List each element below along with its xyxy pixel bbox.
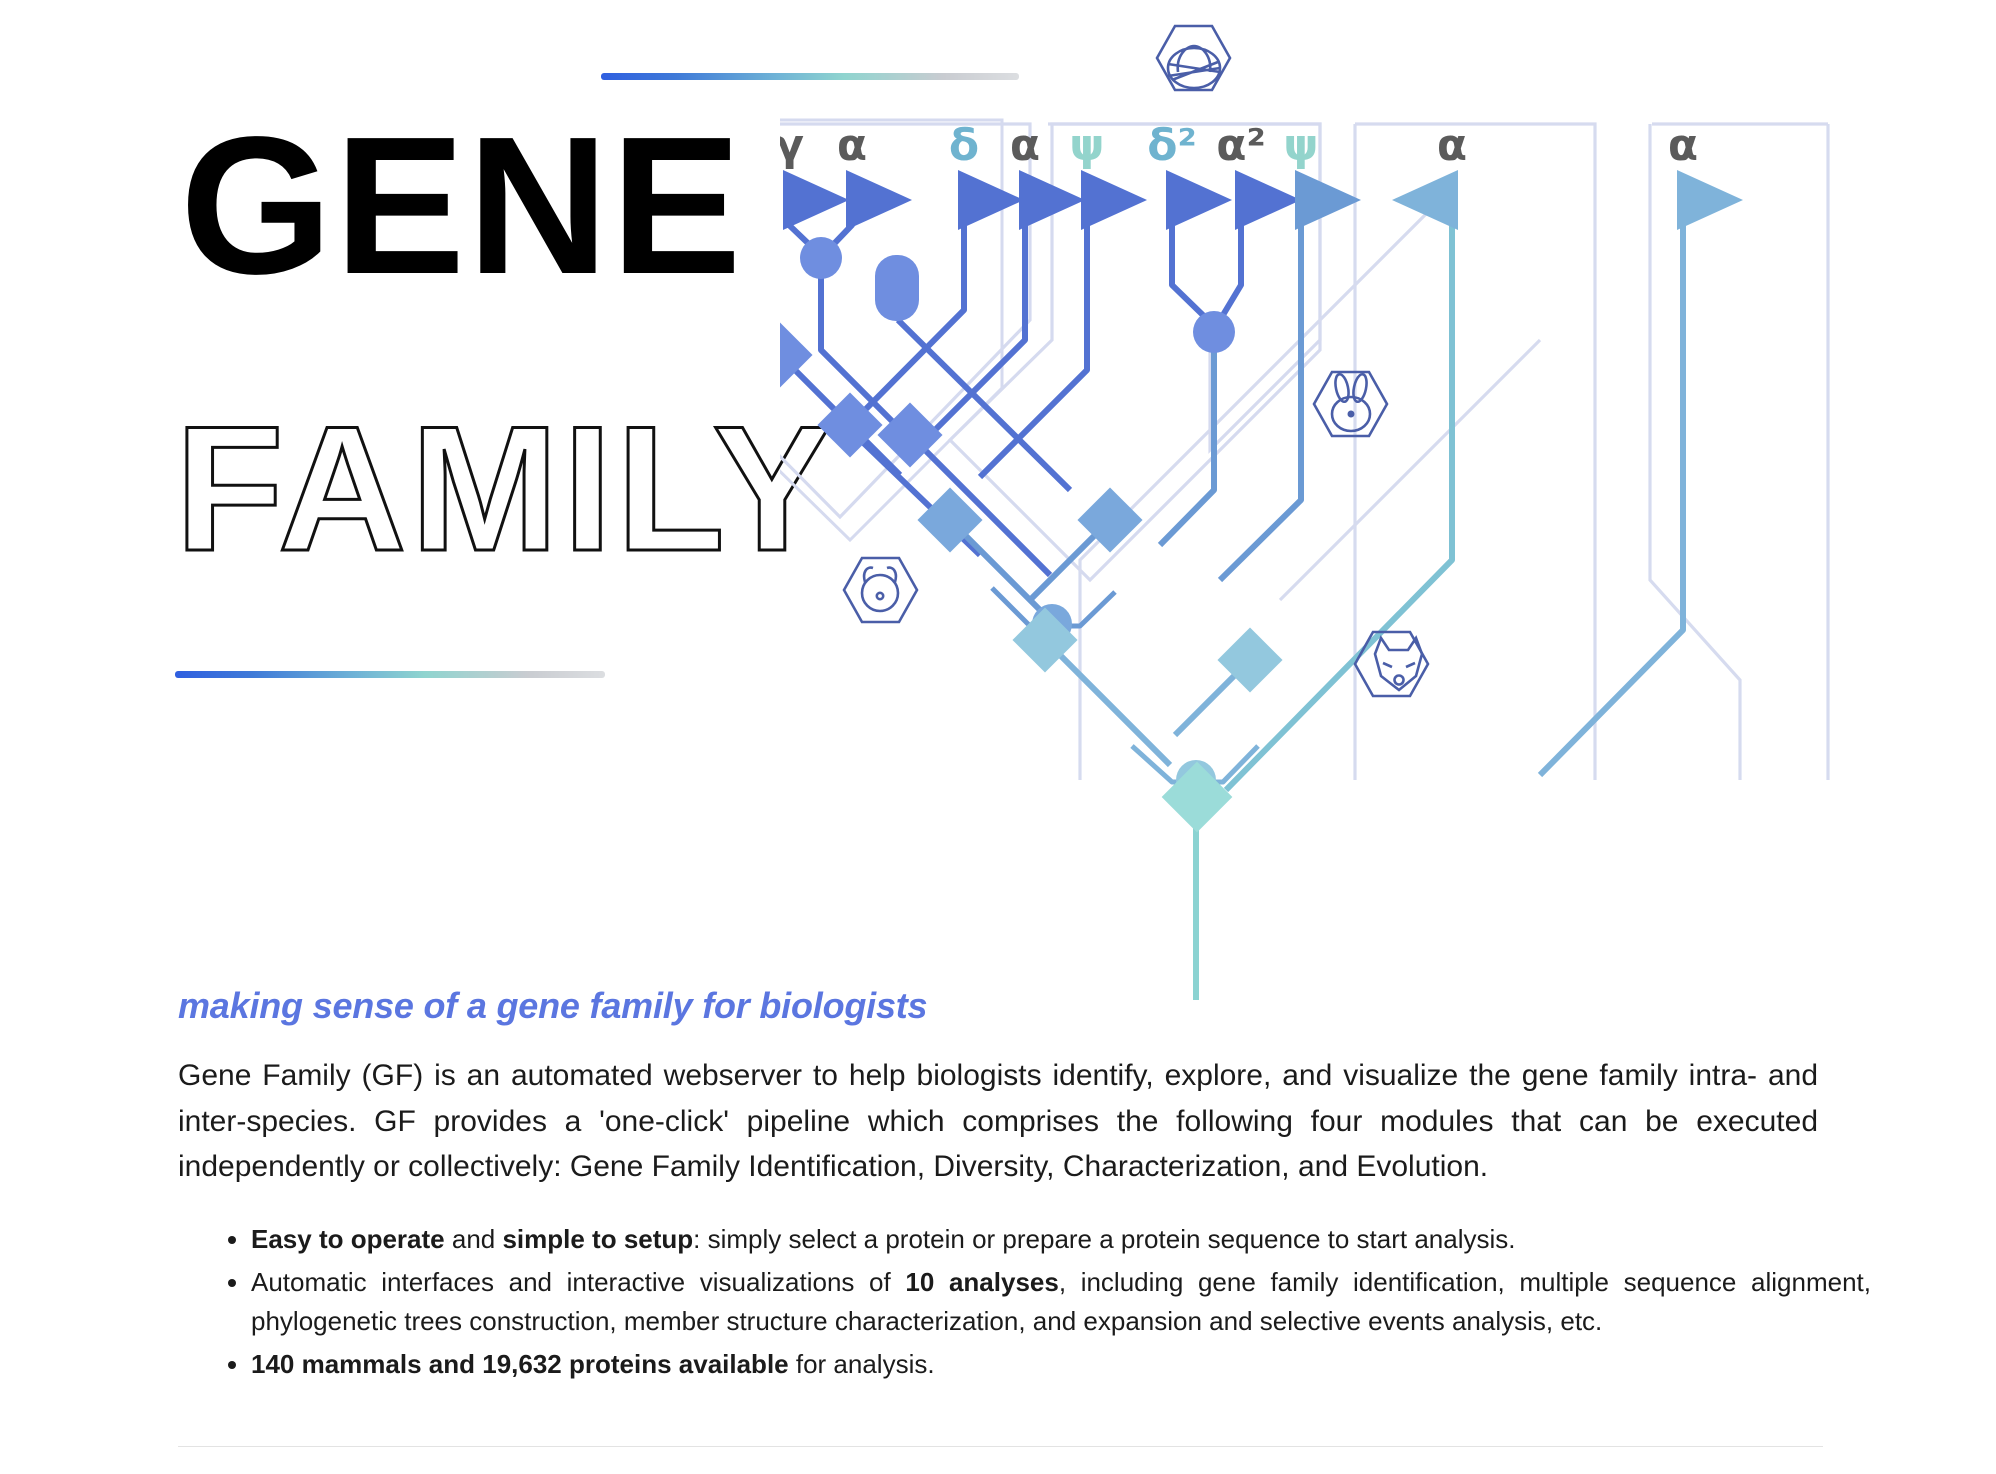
- logo-word-gene: GENE: [180, 108, 743, 304]
- clade-outlines: [780, 120, 1002, 540]
- clade-outline-clade4: [1080, 200, 1440, 780]
- branch-delta2-3: [1172, 200, 1208, 320]
- list-item-mammals-and-proteins: 140 mammals and 19,632 proteins availabl…: [251, 1345, 1871, 1384]
- tip-label-alpha-2: α: [1010, 120, 1040, 171]
- branch-circle-3-down: [1160, 350, 1214, 545]
- tip-label-psi-2: ψ: [1070, 120, 1105, 171]
- tip-label-gamma-1: γ: [780, 120, 804, 171]
- tip-label-alpha-1: α: [837, 120, 867, 171]
- tip-label-psi-3: ψ: [1284, 120, 1319, 171]
- node-circle-speciation-1: [800, 237, 842, 279]
- clade-outline-clade5: [1650, 124, 1740, 780]
- node-diamond-1: [780, 322, 813, 387]
- branch-root-up-right: [1226, 200, 1452, 790]
- page-tagline: making sense of a gene family for biolog…: [178, 985, 927, 1027]
- node-pill-expansion: [875, 255, 919, 321]
- logo-word-family: FAMILY: [175, 400, 835, 578]
- accent-rule-bottom: [175, 671, 605, 678]
- tip-label-delta2-3: δ²: [1147, 120, 1197, 171]
- intro-paragraph: Gene Family (GF) is an automated webserv…: [178, 1053, 1818, 1190]
- clade-outline-clade3: [1355, 124, 1595, 780]
- tip-label-alpha-5: α: [1668, 120, 1698, 171]
- clade-outline-c: [950, 124, 1320, 580]
- tip-label-delta-2: δ: [949, 120, 979, 171]
- tip-label-alpha2-3: α²: [1216, 120, 1266, 171]
- clade-outline-group: [780, 124, 1320, 580]
- node-diamond-row1: [780, 322, 943, 467]
- node-diamond-root: [1162, 762, 1233, 833]
- logo-word-family-text: FAMILY: [175, 389, 835, 588]
- feature-list: Easy to operate and simple to setup: sim…: [205, 1220, 1871, 1388]
- list-item-automatic-interfaces: Automatic interfaces and interactive vis…: [251, 1263, 1871, 1341]
- tree-branches: [780, 195, 1683, 1000]
- gene-family-tree-illustration: δ β γ α δ α ψ δ² α² ψ α α: [780, 20, 1996, 1000]
- logo-word-gene-text: GENE: [180, 96, 743, 315]
- list-item-easy-to-operate: Easy to operate and simple to setup: sim…: [251, 1220, 1871, 1259]
- cat-icon: [1355, 632, 1428, 696]
- tip-label-alpha-4: α: [1437, 120, 1467, 171]
- branch-psi-3: [1220, 200, 1301, 580]
- clade-outline-1: [780, 120, 1002, 540]
- branch-clade5-line: [1540, 200, 1683, 775]
- bear-icon: [844, 558, 917, 622]
- branch-psi-2: [980, 200, 1087, 477]
- section-divider: [178, 1446, 1823, 1447]
- tip-label-row: δ β γ α δ α ψ δ² α² ψ α α: [780, 120, 1698, 171]
- branch-deep-left: [1045, 640, 1170, 765]
- node-circle-speciation-3: [1193, 311, 1235, 353]
- node-diamond-row2: [917, 487, 1142, 644]
- species-badges: [844, 26, 1428, 696]
- rabbit-icon: [1314, 372, 1387, 436]
- mouse-icon: [1157, 26, 1230, 90]
- branch-alpha-1: [830, 200, 852, 248]
- clade-outline-spur: [1280, 340, 1540, 600]
- branch-alpha2-3: [1220, 200, 1241, 320]
